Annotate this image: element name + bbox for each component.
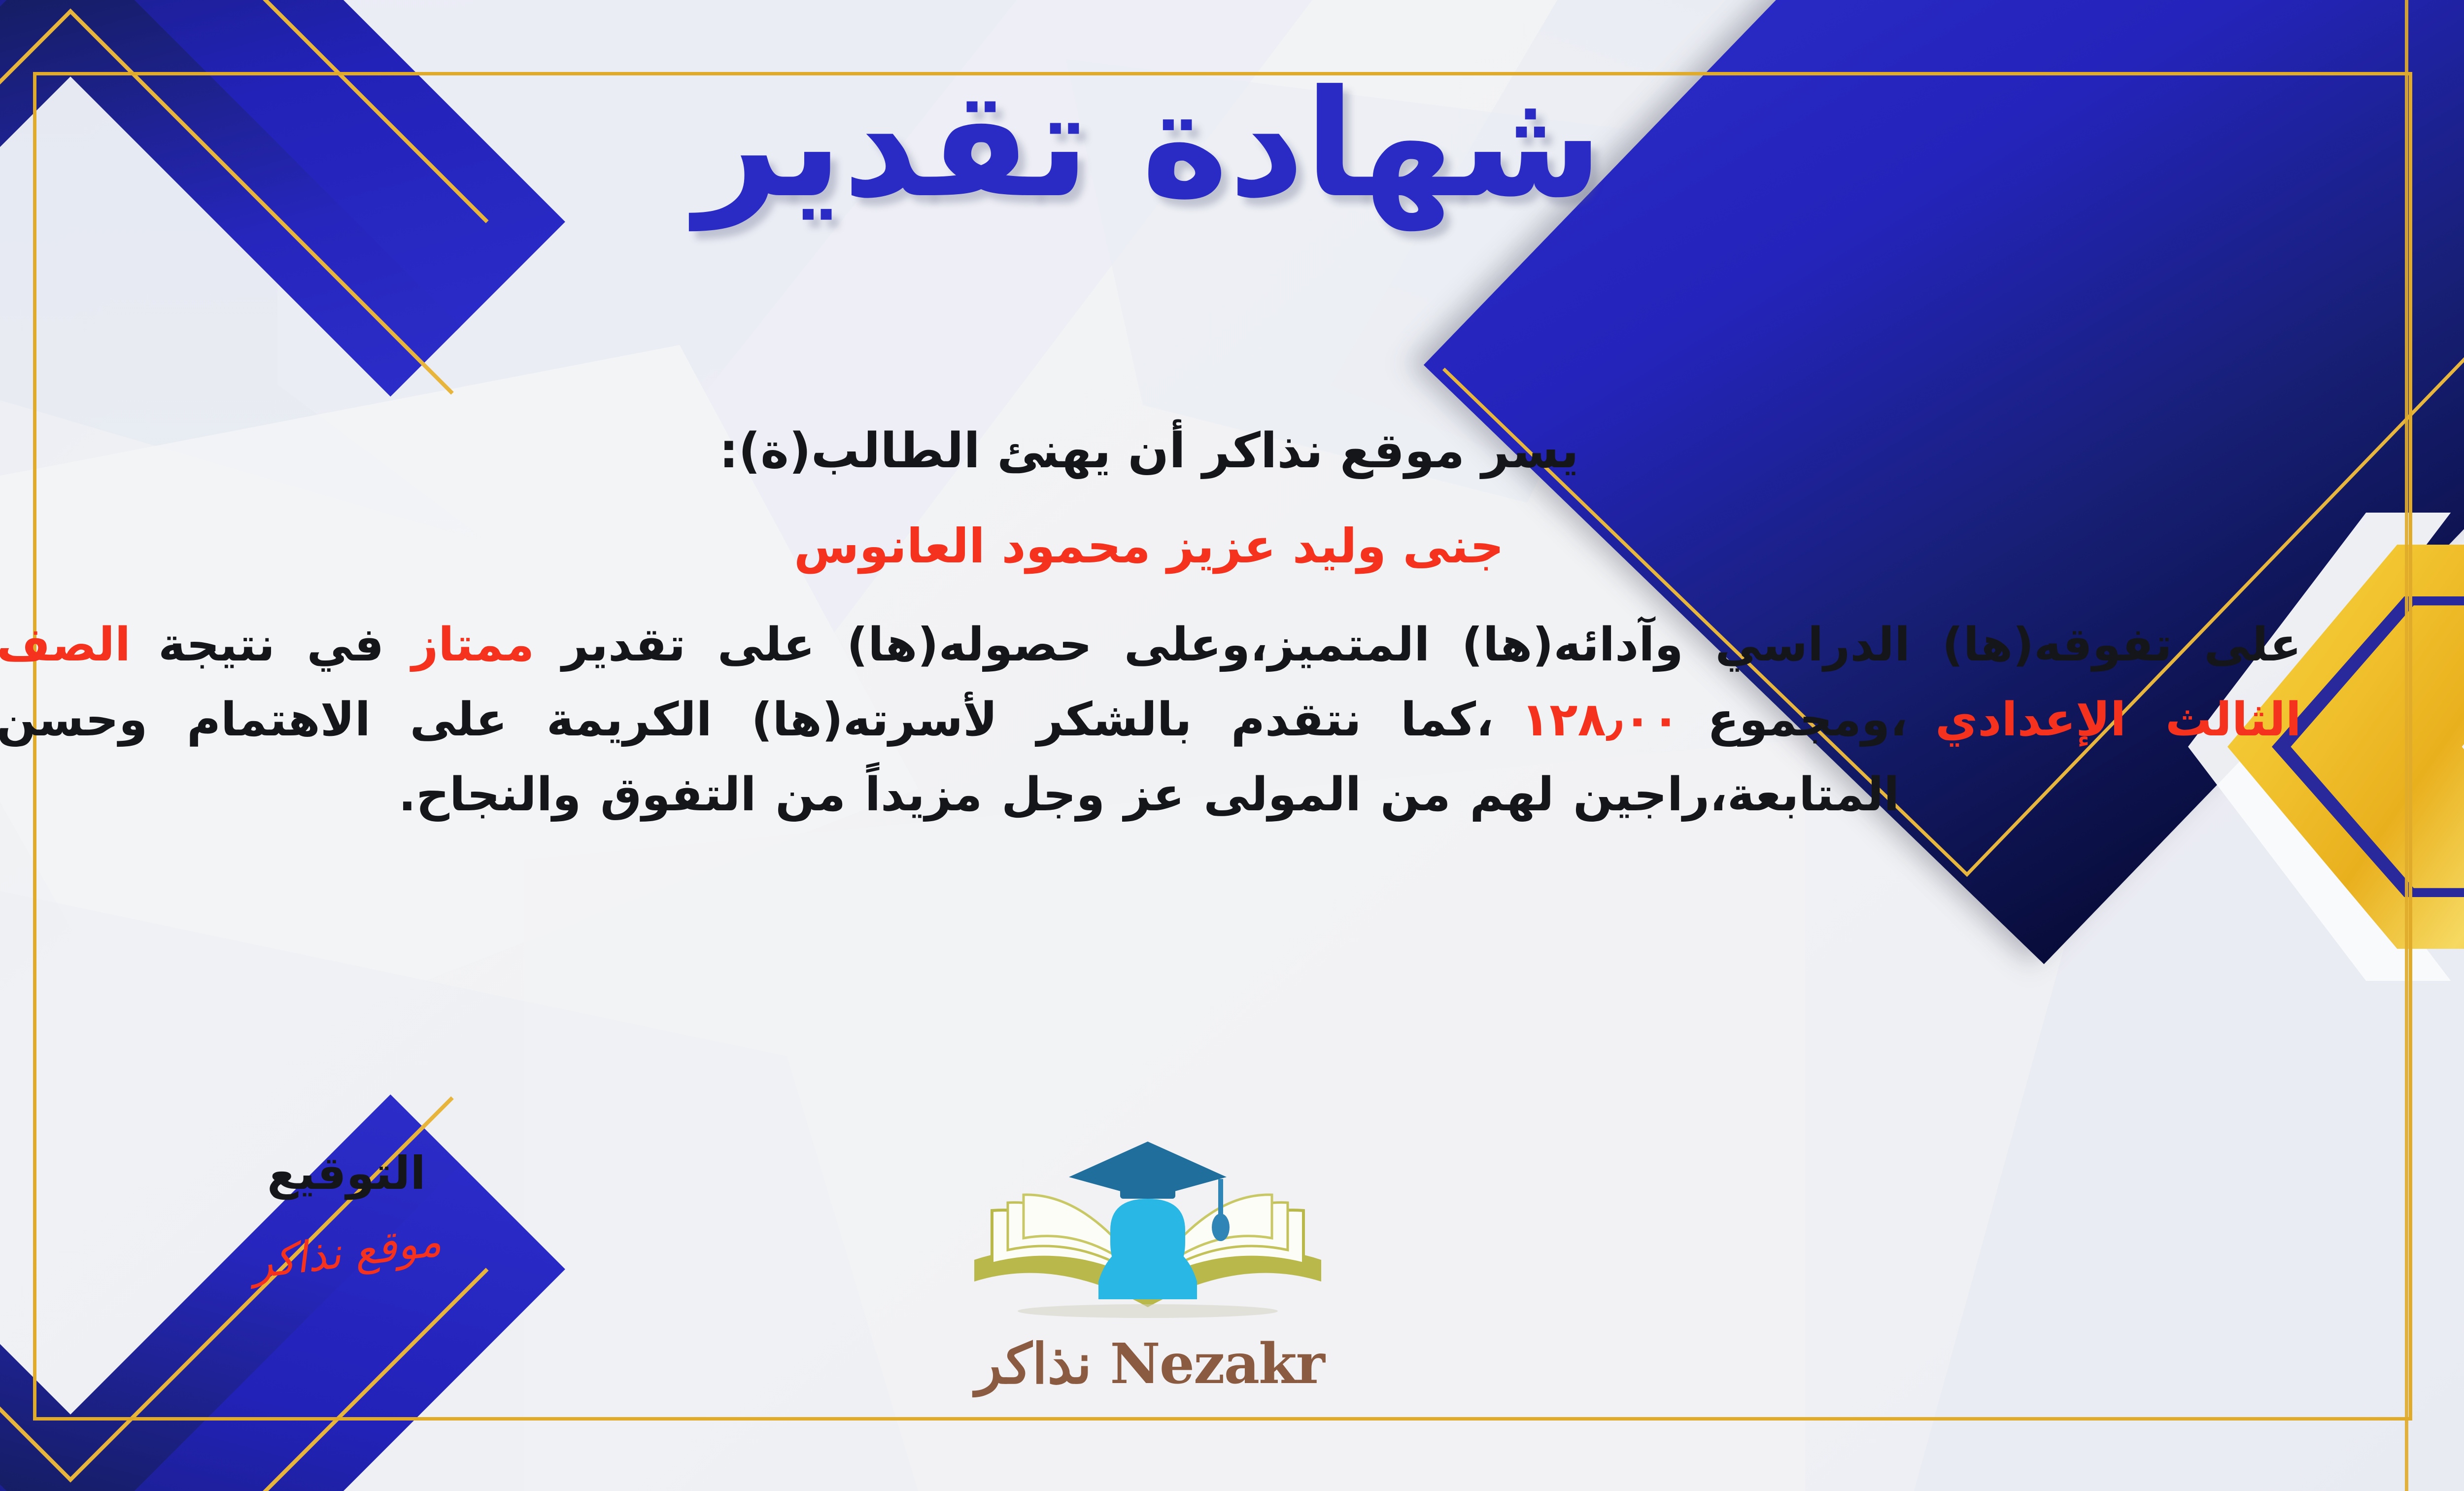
logo-wordmark: Nezakr نذاكر <box>962 1332 1337 1396</box>
signature-label: التوقيع <box>159 1148 534 1198</box>
citation-segment-2: في نتيجة <box>158 618 384 672</box>
citation-segment-1: على تفوقه(ها) الدراسي وآدائه(ها) المتميز… <box>562 618 2301 672</box>
signature-handwriting: موقع نذاكر <box>249 1216 444 1288</box>
signature-block: التوقيع موقع نذاكر <box>159 1148 534 1277</box>
grade-value: ممتاز <box>411 618 534 672</box>
graduate-book-icon <box>962 1134 1337 1341</box>
certificate-title: شهادة تقدير <box>0 67 2464 222</box>
citation-paragraph: على تفوقه(ها) الدراسي وآدائه(ها) المتميز… <box>0 608 2301 833</box>
student-name: جنى وليد عزيز محمود العانوس <box>0 510 2301 583</box>
site-logo: Nezakr نذاكر <box>962 1134 1337 1396</box>
certificate-body: يسر موقع نذاكر أن يهنئ الطالب(ة): جنى ول… <box>0 414 2301 832</box>
citation-segment-3: ،ومجموع <box>1708 693 1908 747</box>
total-score-value: ١٢٨٫٠٠ <box>1521 693 1680 747</box>
certificate-page: شهادة تقدير يسر موقع نذاكر أن يهنئ الطال… <box>0 0 2464 1491</box>
certificate-content: شهادة تقدير يسر موقع نذاكر أن يهنئ الطال… <box>0 0 2464 1491</box>
greeting-line: يسر موقع نذاكر أن يهنئ الطالب(ة): <box>0 414 2301 489</box>
